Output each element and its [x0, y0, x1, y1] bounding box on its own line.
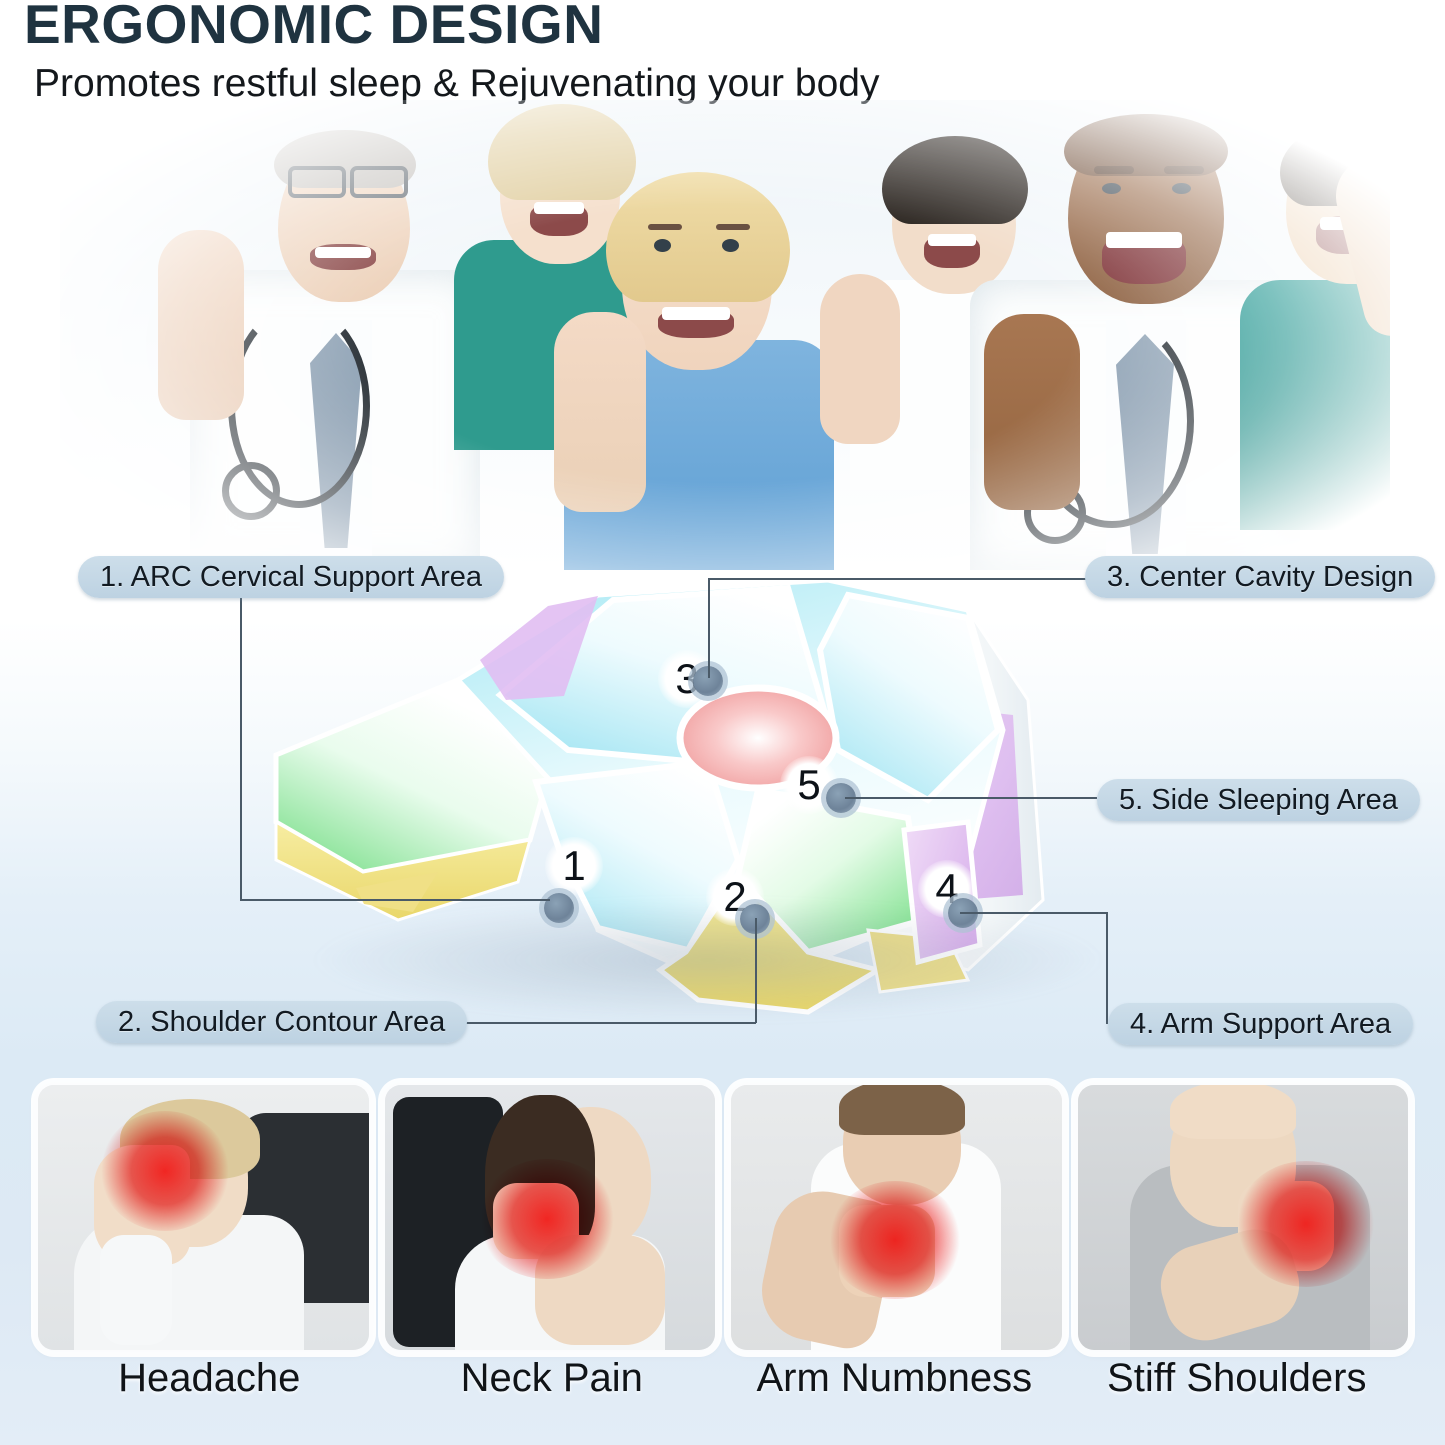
eyeglasses-left: [288, 166, 346, 198]
eye-left: [654, 239, 671, 252]
callout-number-1: 1: [545, 837, 603, 895]
caption-headache: Headache: [38, 1356, 381, 1416]
hair: [606, 172, 790, 302]
symptom-card-arm-numbness[interactable]: [731, 1085, 1062, 1350]
eye-left: [1102, 183, 1121, 194]
eyebrow-left: [1094, 166, 1134, 174]
pain-glow: [1236, 1161, 1376, 1287]
callout-label-4[interactable]: 4. Arm Support Area: [1108, 1003, 1413, 1045]
thumbs-up-hand: [984, 314, 1080, 510]
symptom-card-row: [38, 1085, 1408, 1350]
eyebrow-right: [716, 224, 750, 230]
callout-label-5[interactable]: 5. Side Sleeping Area: [1097, 779, 1420, 821]
forearm: [100, 1235, 172, 1345]
eyebrow-right: [1164, 166, 1204, 174]
connector-line-2-horizontal: [440, 1022, 756, 1024]
connector-line-5-horizontal: [845, 797, 1097, 799]
teeth: [315, 247, 371, 258]
callout-label-2[interactable]: 2. Shoulder Contour Area: [96, 1001, 467, 1043]
page-title: ERGONOMIC DESIGN: [24, 0, 603, 54]
caption-neck-pain: Neck Pain: [381, 1356, 724, 1416]
callout-marker-1[interactable]: [544, 893, 574, 923]
pain-glow: [827, 1181, 963, 1299]
symptom-card-stiff-shoulders[interactable]: [1078, 1085, 1409, 1350]
thumbs-up-hand: [820, 274, 900, 444]
shaved-head: [1064, 114, 1228, 176]
eyebrow-left: [648, 224, 682, 230]
eyeglasses-right: [350, 166, 408, 198]
teeth: [662, 307, 730, 320]
nurse-teal-scrubs: [1240, 100, 1390, 530]
caption-stiff-shoulders: Stiff Shoulders: [1066, 1356, 1409, 1416]
connector-line-4-vertical: [1106, 912, 1108, 1024]
symptom-card-headache[interactable]: [38, 1085, 369, 1350]
symptom-card-neck-pain[interactable]: [385, 1085, 716, 1350]
connector-line-3-vertical: [708, 578, 710, 678]
callout-label-3[interactable]: 3. Center Cavity Design: [1085, 556, 1435, 598]
pain-glow: [477, 1159, 617, 1279]
eye-right: [1172, 183, 1191, 194]
caption-arm-numbness: Arm Numbness: [723, 1356, 1066, 1416]
thumbs-up-hand: [158, 230, 244, 420]
teeth: [1106, 232, 1182, 248]
callout-label-1[interactable]: 1. ARC Cervical Support Area: [78, 556, 504, 598]
connector-line-1-vertical: [240, 598, 242, 900]
connector-line-4-horizontal: [960, 912, 1108, 914]
eye-right: [722, 239, 739, 252]
connector-line-1-horizontal: [240, 899, 550, 901]
symptom-caption-row: Headache Neck Pain Arm Numbness Stiff Sh…: [38, 1356, 1408, 1416]
thumbs-up-hand: [554, 312, 646, 512]
pain-glow: [100, 1111, 230, 1231]
bald-scalp: [1170, 1085, 1296, 1139]
infographic-page: ERGONOMIC DESIGN Promotes restful sleep …: [0, 0, 1445, 1445]
hair: [839, 1085, 965, 1135]
connector-line-2-vertical: [755, 918, 757, 1023]
connector-line-3-horizontal: [708, 578, 1088, 580]
